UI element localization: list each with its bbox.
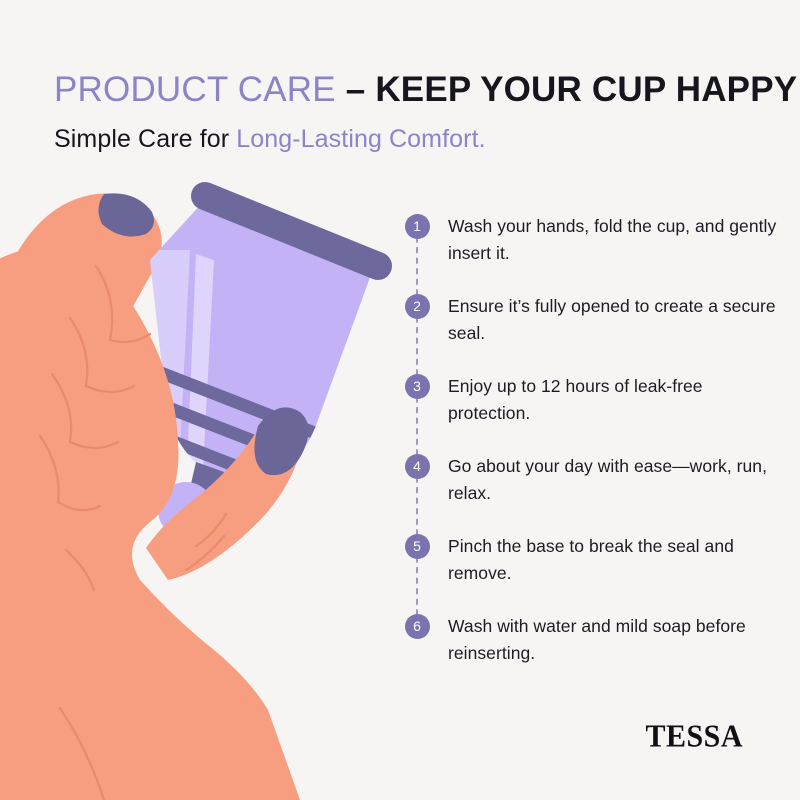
list-item: 3 Enjoy up to 12 hours of leak-free prot… <box>400 372 780 452</box>
title-accent-text: PRODUCT CARE <box>54 70 336 109</box>
step-number-badge: 6 <box>405 614 430 639</box>
step-marker: 5 <box>400 532 434 559</box>
list-item: 6 Wash with water and mild soap before r… <box>400 612 780 692</box>
title-main-text: KEEP YOUR CUP HAPPY! <box>375 70 800 109</box>
title-dash: – <box>336 70 376 109</box>
step-text: Enjoy up to 12 hours of leak-free protec… <box>434 372 780 426</box>
step-text: Wash your hands, fold the cup, and gentl… <box>434 212 780 266</box>
step-number-badge: 4 <box>405 454 430 479</box>
step-marker: 1 <box>400 212 434 239</box>
step-marker: 2 <box>400 292 434 319</box>
steps-list: 1 Wash your hands, fold the cup, and gen… <box>400 212 780 692</box>
hand-holding-cup-illustration <box>0 150 400 800</box>
heading-block: PRODUCT CARE – KEEP YOUR CUP HAPPY! Simp… <box>54 70 774 154</box>
step-text: Pinch the base to break the seal and rem… <box>434 532 780 586</box>
step-marker: 4 <box>400 452 434 479</box>
list-item: 4 Go about your day with ease—work, run,… <box>400 452 780 532</box>
list-item: 1 Wash your hands, fold the cup, and gen… <box>400 212 780 292</box>
list-item: 2 Ensure it’s fully opened to create a s… <box>400 292 780 372</box>
step-text: Go about your day with ease—work, run, r… <box>434 452 780 506</box>
step-number-badge: 3 <box>405 374 430 399</box>
step-number-badge: 1 <box>405 214 430 239</box>
step-number-badge: 5 <box>405 534 430 559</box>
step-text: Ensure it’s fully opened to create a sec… <box>434 292 780 346</box>
page-title: PRODUCT CARE – KEEP YOUR CUP HAPPY! <box>54 70 774 110</box>
step-number-badge: 2 <box>405 294 430 319</box>
subtitle-period: . <box>479 125 486 153</box>
product-care-infographic: PRODUCT CARE – KEEP YOUR CUP HAPPY! Simp… <box>0 0 800 800</box>
step-text: Wash with water and mild soap before rei… <box>434 612 780 666</box>
list-item: 5 Pinch the base to break the seal and r… <box>400 532 780 612</box>
brand-logo: TESSA <box>645 721 743 753</box>
step-marker: 3 <box>400 372 434 399</box>
step-marker: 6 <box>400 612 434 639</box>
